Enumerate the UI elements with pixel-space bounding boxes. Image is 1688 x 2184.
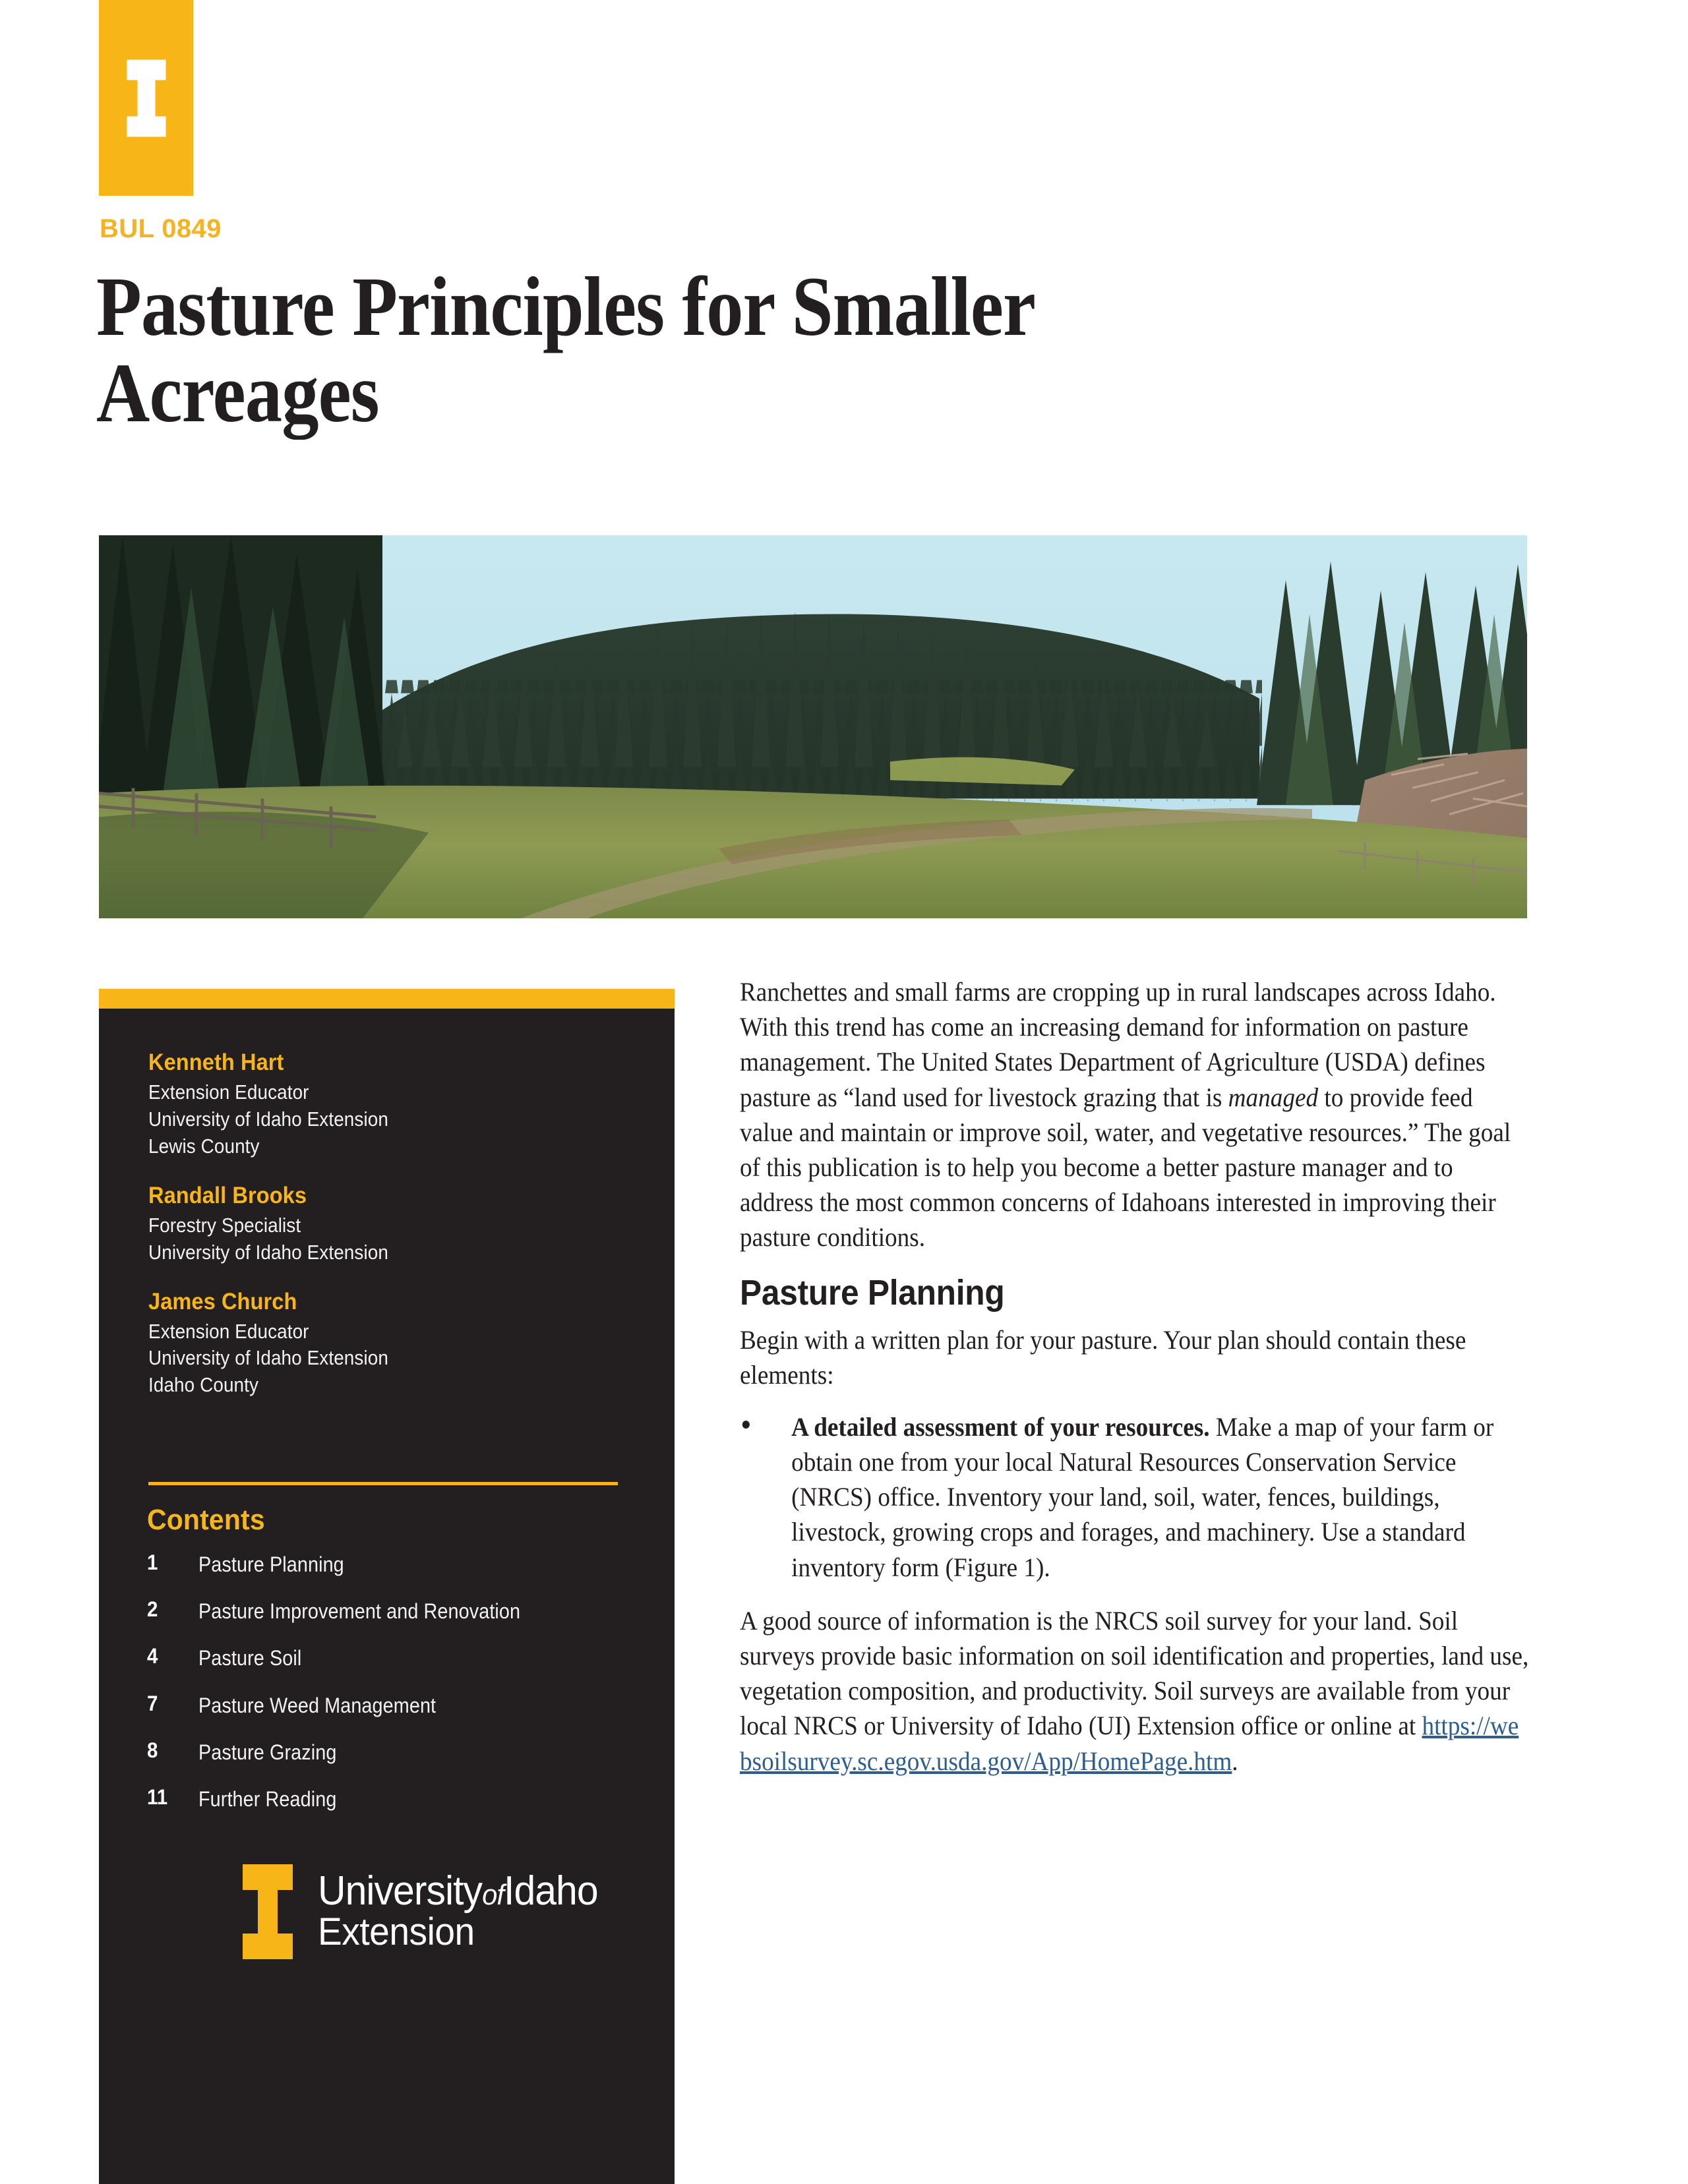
extension-wordmark: UniversityofIdaho Extension (318, 1871, 613, 1953)
list-item: A detailed assessment of your resources.… (740, 1409, 1531, 1585)
contents-heading: Contents (147, 1504, 265, 1537)
author-affiliation: Extension Educator (148, 1079, 564, 1106)
sidebar: Kenneth Hart Extension Educator Universi… (99, 989, 675, 2184)
toc-label: Pasture Planning (198, 1550, 344, 1578)
author-affiliation: Extension Educator (148, 1318, 564, 1345)
university-of-idaho-i-logo (123, 55, 170, 141)
author-list: Kenneth Hart Extension Educator Universi… (148, 1049, 610, 1399)
toc-item[interactable]: 11 Further Reading (147, 1785, 635, 1813)
soil-survey-paragraph: A good source of information is the NRCS… (740, 1603, 1531, 1779)
bullet-dot-icon (742, 1421, 750, 1429)
author-name: James Church (148, 1289, 578, 1315)
toc-label: Further Reading (198, 1785, 336, 1813)
page-title: Pasture Principles for Smaller Acreages (96, 264, 1303, 436)
university-logo-block (99, 0, 193, 196)
author-affiliation: University of Idaho Extension (148, 1239, 564, 1266)
extension-brand-logo: UniversityofIdaho Extension (237, 1859, 613, 1964)
hero-photo (99, 535, 1527, 918)
toc-label: Pasture Weed Management (198, 1692, 436, 1719)
author-name: Kenneth Hart (148, 1049, 578, 1076)
author-name: Randall Brooks (148, 1183, 578, 1209)
brand-line-extension: Extension (318, 1912, 598, 1953)
contents-divider (148, 1482, 618, 1485)
author-entry: James Church Extension Educator Universi… (148, 1289, 610, 1400)
intro-paragraph: Ranchettes and small farms are cropping … (740, 974, 1531, 1255)
toc-page-number: 1 (147, 1550, 195, 1578)
author-affiliation: Lewis County (148, 1133, 564, 1160)
toc-label: Pasture Soil (198, 1644, 301, 1672)
toc-page-number: 11 (147, 1785, 195, 1813)
pasture-landscape-illustration (99, 535, 1527, 918)
bulletin-number: BUL 0849 (100, 214, 222, 244)
toc-page-number: 2 (147, 1597, 195, 1625)
author-affiliation: Idaho County (148, 1372, 564, 1399)
table-of-contents: 1 Pasture Planning 2 Pasture Improvement… (147, 1550, 635, 1832)
toc-label: Pasture Grazing (198, 1738, 336, 1766)
toc-item[interactable]: 4 Pasture Soil (147, 1644, 635, 1672)
toc-item[interactable]: 1 Pasture Planning (147, 1550, 635, 1578)
toc-page-number: 8 (147, 1738, 195, 1766)
author-affiliation: Forestry Specialist (148, 1212, 564, 1239)
toc-label: Pasture Improvement and Renovation (198, 1597, 520, 1625)
toc-item[interactable]: 8 Pasture Grazing (147, 1738, 635, 1766)
toc-item[interactable]: 7 Pasture Weed Management (147, 1692, 635, 1719)
main-content: Ranchettes and small farms are cropping … (740, 974, 1531, 1796)
toc-page-number: 7 (147, 1692, 195, 1719)
planning-lead-paragraph: Begin with a written plan for your pastu… (740, 1322, 1531, 1392)
author-affiliation: University of Idaho Extension (148, 1345, 564, 1372)
author-entry: Kenneth Hart Extension Educator Universi… (148, 1049, 610, 1160)
toc-item[interactable]: 2 Pasture Improvement and Renovation (147, 1597, 635, 1625)
toc-page-number: 4 (147, 1644, 195, 1672)
sidebar-gold-accent-bar (99, 989, 675, 1009)
brand-line-university-of-idaho: UniversityofIdaho (318, 1871, 598, 1912)
bullet-lead-in: A detailed assessment of your resources. (791, 1412, 1209, 1442)
author-entry: Randall Brooks Forestry Specialist Unive… (148, 1183, 610, 1266)
section-heading-pasture-planning: Pasture Planning (740, 1272, 1468, 1313)
author-affiliation: University of Idaho Extension (148, 1106, 564, 1133)
planning-elements-list: A detailed assessment of your resources.… (740, 1409, 1531, 1585)
university-of-idaho-i-logo (237, 1859, 298, 1964)
